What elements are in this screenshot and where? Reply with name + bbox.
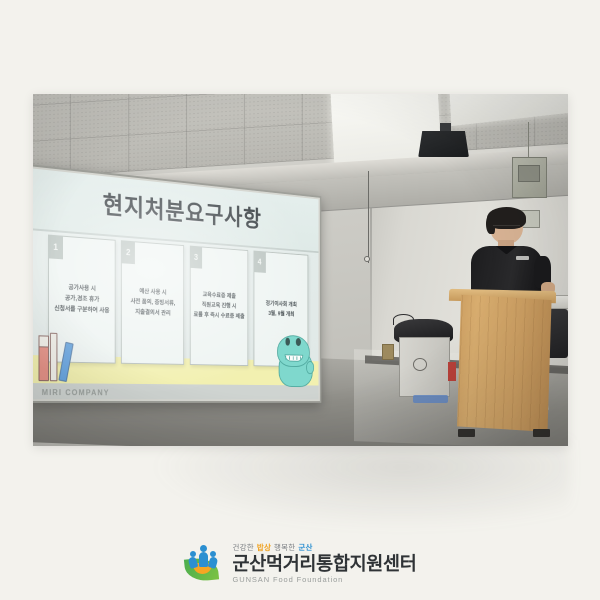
electrical-conduit [528, 122, 529, 157]
slide-card-text: 공가사용 시 공가,경조 휴가 신청서를 구분하여 사용 [54, 283, 109, 317]
blue-floor-item [413, 395, 448, 403]
slide-card-text: 예산 사용 시 사전 품의, 증빙서류, 지출결의서 관리 [130, 287, 175, 320]
dinosaur-mascot-icon [276, 326, 314, 388]
book-white [49, 333, 57, 382]
logo-figure-head [190, 551, 196, 557]
footer-logo-block: 건강한 밥상 행복한 군산 군산먹거리통합지원센터 GUNSAN Food Fo… [0, 536, 600, 590]
slide-card: 2 예산 사용 시 사전 품의, 증빙서류, 지출결의서 관리 [121, 240, 184, 365]
books-illustration-icon [36, 328, 75, 381]
gunsan-food-foundation-logo-icon [184, 543, 224, 583]
slide-card-number: 2 [121, 240, 135, 264]
logo-figure-head [200, 545, 207, 552]
tagline-part-2: 밥상 [257, 542, 271, 553]
cabinet-dial-icon [413, 358, 427, 371]
organization-name-korean: 군산먹거리통합지원센터 [233, 554, 417, 573]
tagline-part-3: 행복한 [274, 542, 295, 553]
organization-name-english: GUNSAN Food Foundation [233, 575, 417, 584]
slide-card-text: 정기이사회 개최 3월, 9월 개최 [265, 300, 296, 321]
slide-card-text: 교육수료증 제출 직원교육 진행 시 료를 후 즉시 수료증 제출 [193, 291, 244, 323]
slide-footer-text: MIRI COMPANY [41, 388, 109, 397]
footer-logo-text: 건강한 밥상 행복한 군산 군산먹거리통합지원센터 GUNSAN Food Fo… [233, 542, 417, 583]
screen-pull-knob-icon [364, 256, 370, 262]
lecture-room-photo: 현지처분요구사항 MIRI COMPANY 1 공가사용 시 공가,경조 휴가 … [33, 94, 568, 446]
mascot-head [277, 335, 309, 368]
tagline-part-1: 건강한 [233, 542, 254, 553]
electrical-panel-face [518, 165, 540, 182]
book-red-cap [38, 336, 48, 348]
photo-drop-shadow [150, 440, 570, 530]
shirt-logo [516, 256, 529, 260]
slide-card-number: 4 [253, 251, 265, 273]
projection-screen: 현지처분요구사항 MIRI COMPANY 1 공가사용 시 공가,경조 휴가 … [33, 164, 321, 403]
wall-outlet-icon [382, 344, 394, 360]
slide-card-number: 1 [48, 235, 63, 260]
page-root: 현지처분요구사항 MIRI COMPANY 1 공가사용 시 공가,경조 휴가 … [0, 0, 600, 600]
podium-foot [533, 429, 550, 437]
logo-figure-head [210, 551, 216, 557]
slide-card-row: 1 공가사용 시 공가,경조 휴가 신청서를 구분하여 사용 2 예산 사용 시… [48, 235, 308, 368]
ceiling-speaker-icon [418, 131, 469, 157]
screen-frame: 현지처분요구사항 MIRI COMPANY 1 공가사용 시 공가,경조 휴가 … [33, 164, 321, 403]
logo-figure-body [199, 552, 208, 567]
tagline-part-4: 군산 [298, 542, 312, 553]
mascot-eye-right [296, 339, 301, 347]
podium-foot [458, 429, 475, 437]
presenter-glasses-icon [493, 225, 520, 230]
presentation-slide: 현지처분요구사항 MIRI COMPANY 1 공가사용 시 공가,경조 휴가 … [33, 169, 318, 400]
slide-card: 3 교육수료증 제출 직원교육 진행 시 료를 후 즉시 수료증 제출 [189, 246, 248, 367]
slide-card-number: 3 [189, 246, 202, 269]
screen-cable [368, 171, 369, 263]
book-blue [58, 343, 73, 384]
podium-wood-grain [453, 295, 555, 432]
electrical-panel-icon [512, 157, 547, 197]
wooden-podium-icon [453, 295, 555, 432]
red-equipment-item [448, 362, 457, 381]
presenter-hair-side [486, 214, 495, 234]
logo-tagline: 건강한 밥상 행복한 군산 [233, 542, 417, 553]
